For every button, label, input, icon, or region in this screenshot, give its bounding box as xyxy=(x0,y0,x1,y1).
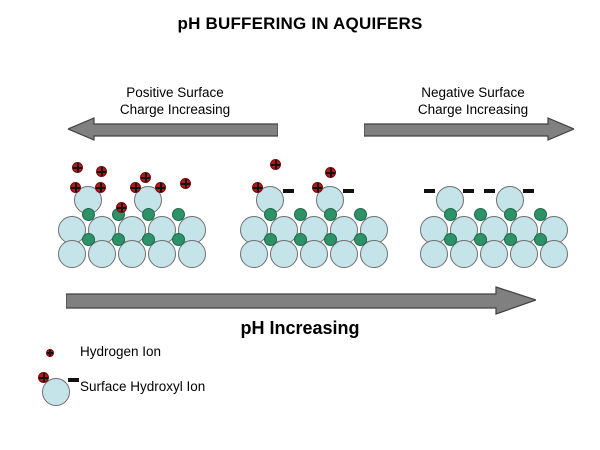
oxygen-site-dot xyxy=(474,233,487,246)
free-hydrogen-ion-icon xyxy=(72,162,83,173)
oxygen-site-dot xyxy=(504,208,517,221)
negative-charge-icon xyxy=(424,189,435,193)
positive-charge-arrow xyxy=(68,116,278,147)
negative-charge-icon xyxy=(484,189,495,193)
negative-charge-icon xyxy=(343,189,354,193)
free-hydrogen-ion-icon xyxy=(140,172,151,183)
oxygen-site-dot xyxy=(172,233,185,246)
hydrogen-ion-icon xyxy=(38,372,49,383)
oxygen-site-dot xyxy=(444,208,457,221)
oxygen-site-dot xyxy=(142,208,155,221)
oxygen-site-dot xyxy=(534,233,547,246)
free-hydrogen-ion-icon xyxy=(180,178,191,189)
free-hydrogen-ion-icon xyxy=(325,167,336,178)
ph-increasing-arrow xyxy=(66,285,536,320)
legend-label-hydrogen-ion: Hydrogen Ion xyxy=(80,344,161,359)
oxygen-site-dot xyxy=(294,208,307,221)
oxygen-site-dot xyxy=(172,208,185,221)
oxygen-site-dot xyxy=(354,208,367,221)
right-arrow-caption: Negative Surface Charge Increasing xyxy=(368,84,578,118)
negative-charge-icon xyxy=(523,189,534,193)
hydrogen-ion-icon xyxy=(252,182,263,193)
oxygen-site-dot xyxy=(82,208,95,221)
negative-charge-icon xyxy=(68,378,79,382)
free-hydrogen-ion-icon xyxy=(116,202,127,213)
oxygen-site-dot xyxy=(324,208,337,221)
mineral-circle xyxy=(58,240,86,268)
oxygen-site-dot xyxy=(474,208,487,221)
hydrogen-ion-icon xyxy=(312,182,323,193)
legend-label-surface-hydroxyl-ion: Surface Hydroxyl Ion xyxy=(80,379,205,394)
mineral-circle xyxy=(420,240,448,268)
diagram-canvas: pH BUFFERING IN AQUIFERS Positive Surfac… xyxy=(0,0,600,450)
hydrogen-ion-icon xyxy=(70,182,81,193)
hydrogen-ion-icon xyxy=(130,182,141,193)
hydrogen-ion-icon xyxy=(46,349,54,357)
oxygen-site-dot xyxy=(324,233,337,246)
left-arrow-caption: Positive Surface Charge Increasing xyxy=(70,84,280,118)
hydrogen-ion-icon xyxy=(155,182,166,193)
oxygen-site-dot xyxy=(264,233,277,246)
oxygen-site-dot xyxy=(142,233,155,246)
negative-charge-arrow xyxy=(364,116,574,147)
free-hydrogen-ion-icon xyxy=(270,159,281,170)
page-title: pH BUFFERING IN AQUIFERS xyxy=(0,14,600,34)
negative-charge-icon xyxy=(283,189,294,193)
oxygen-site-dot xyxy=(504,233,517,246)
oxygen-site-dot xyxy=(354,233,367,246)
oxygen-site-dot xyxy=(294,233,307,246)
negative-charge-icon xyxy=(463,189,474,193)
mineral-circle xyxy=(240,240,268,268)
hydrogen-ion-icon xyxy=(95,182,106,193)
oxygen-site-dot xyxy=(82,233,95,246)
ph-increasing-caption: pH Increasing xyxy=(0,318,600,339)
oxygen-site-dot xyxy=(112,233,125,246)
oxygen-site-dot xyxy=(444,233,457,246)
free-hydrogen-ion-icon xyxy=(96,166,107,177)
oxygen-site-dot xyxy=(264,208,277,221)
oxygen-site-dot xyxy=(534,208,547,221)
